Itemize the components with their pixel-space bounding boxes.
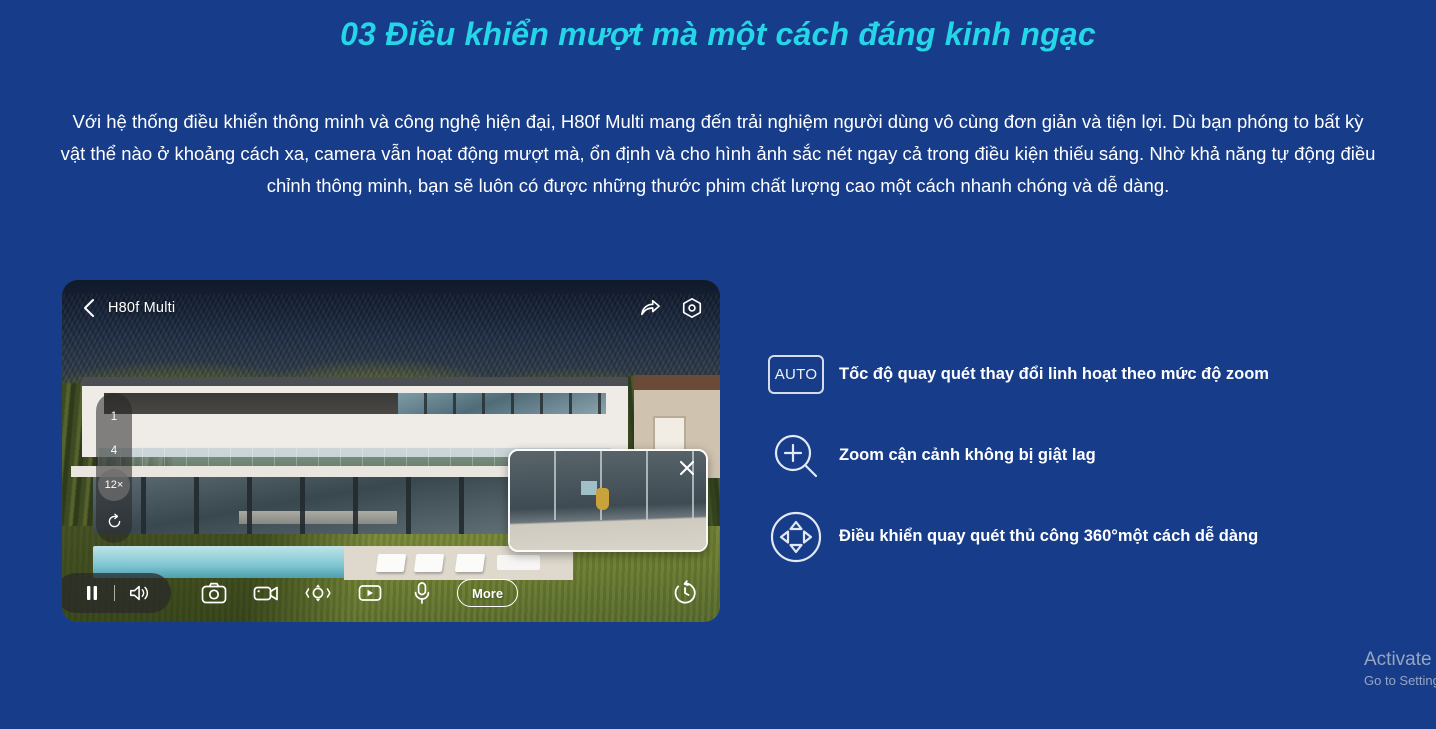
pip-zoom-window[interactable] — [508, 449, 708, 552]
transport-controls — [62, 573, 171, 613]
pip-object-vase — [596, 488, 609, 510]
feature-list: AUTO Tốc độ quay quét thay đổi linh hoạt… — [765, 334, 1405, 577]
app-title: H80f Multi — [108, 300, 175, 316]
more-button[interactable]: More — [457, 579, 518, 607]
hexagon-settings-icon — [681, 297, 703, 319]
upper-glass-wall — [398, 393, 606, 414]
microphone-button[interactable] — [405, 576, 439, 610]
app-top-bar: H80f Multi — [62, 280, 720, 336]
record-button[interactable] — [249, 576, 283, 610]
share-arrow-icon — [639, 298, 661, 318]
history-button[interactable] — [668, 576, 702, 610]
reset-rotate-icon — [106, 513, 123, 530]
close-icon — [676, 457, 698, 479]
page-title: 03 Điều khiển mượt mà một cách đáng kinh… — [0, 16, 1436, 53]
pause-button[interactable] — [82, 576, 102, 610]
pan-360-control-icon-svg — [769, 510, 823, 564]
zoom-in-magnifier-icon — [765, 430, 827, 482]
feature-item-auto-speed: AUTO Tốc độ quay quét thay đổi linh hoạt… — [765, 334, 1405, 415]
divider — [114, 585, 115, 601]
camera-snapshot-icon — [201, 582, 227, 604]
pan-tilt-button[interactable] — [301, 576, 335, 610]
video-record-icon — [253, 583, 279, 603]
share-button[interactable] — [638, 296, 662, 320]
villa-roof — [82, 377, 628, 386]
volume-on-icon — [128, 583, 152, 603]
windows-activation-watermark: Activate Windows Go to Settings to activ… — [1364, 648, 1436, 700]
zoom-step-4[interactable]: 4 — [98, 435, 130, 467]
watermark-subtitle: Go to Settings to activate Windows. — [1364, 672, 1436, 690]
watermark-title: Activate Windows — [1364, 648, 1436, 672]
top-bar-actions — [638, 296, 704, 320]
auto-badge-label: AUTO — [768, 355, 824, 394]
volume-button[interactable] — [127, 576, 153, 610]
pause-icon — [85, 585, 99, 601]
interior-view — [239, 511, 396, 524]
feature-item-smooth-zoom: Zoom cận cảnh không bị giật lag — [765, 415, 1405, 496]
auto-badge-icon: AUTO — [765, 355, 827, 394]
page-title-text: 03 Điều khiển mượt mà một cách đáng kinh… — [340, 16, 1096, 52]
feature-label: Điều khiển quay quét thủ công 360°một cá… — [839, 527, 1258, 546]
snapshot-button[interactable] — [197, 576, 231, 610]
clock-history-icon — [672, 580, 698, 606]
feature-item-360-pan: Điều khiển quay quét thủ công 360°một cá… — [765, 496, 1405, 577]
feature-label: Tốc độ quay quét thay đổi linh hoạt theo… — [839, 365, 1269, 384]
pan-tilt-icon — [305, 581, 331, 605]
intro-paragraph: Với hệ thống điều khiển thông minh và cô… — [58, 106, 1378, 202]
pip-object-box — [581, 481, 597, 495]
camera-tool-buttons: More — [197, 576, 518, 610]
zoom-reset-button[interactable] — [98, 505, 130, 537]
playback-button[interactable] — [353, 576, 387, 610]
camera-app-screenshot: H80f Multi 1 4 12× — [62, 280, 720, 622]
back-button[interactable] — [78, 297, 100, 319]
zoom-in-magnifier-icon-svg — [770, 430, 822, 482]
chevron-left-icon — [82, 298, 96, 318]
feature-label: Zoom cận cảnh không bị giật lag — [839, 446, 1096, 465]
zoom-level-rail[interactable]: 1 4 12× — [96, 393, 132, 543]
zoom-step-12x[interactable]: 12× — [98, 469, 130, 501]
playback-icon — [357, 583, 383, 603]
pan-360-control-icon — [765, 510, 827, 564]
microphone-icon — [412, 581, 432, 605]
app-bottom-bar: More — [62, 564, 720, 622]
settings-button[interactable] — [680, 296, 704, 320]
pip-close-button[interactable] — [676, 457, 698, 479]
zoom-step-1[interactable]: 1 — [98, 401, 130, 433]
